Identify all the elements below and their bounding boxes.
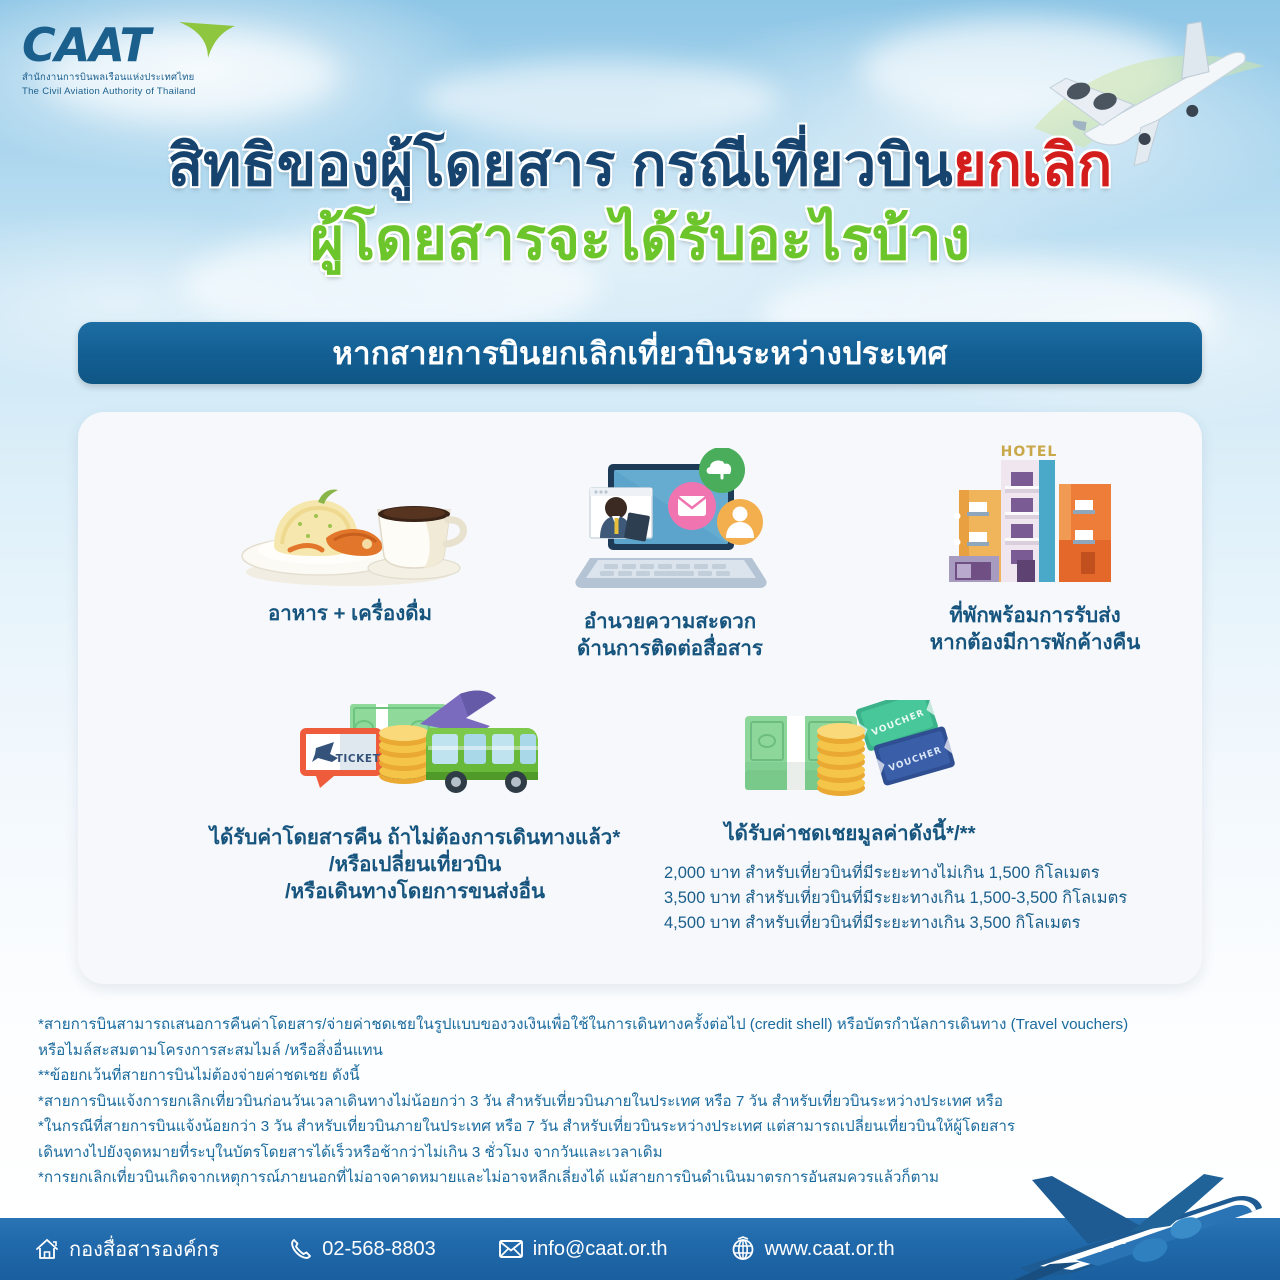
logo-subtitle-thai: สำนักงานการบินพลเรือนแห่งประเทศไทย — [22, 70, 242, 85]
benefit-caption: ได้รับค่าชดเชยมูลค่าดังนี้*/** — [640, 820, 1060, 847]
money-voucher-icon: VOUCHER VOUCHER — [640, 700, 1060, 810]
footer-contact-phone[interactable]: 02-568-8803 — [289, 1237, 435, 1261]
benefit-caption-second-line: /หรือเปลี่ยนเที่ยวบิน — [180, 851, 650, 878]
home-icon — [34, 1236, 60, 1262]
logo-wordmark: CAAT — [22, 18, 150, 72]
compensation-amount-row: 2,000 บาท สำหรับเที่ยวบินที่มีระยะทางไม่… — [664, 861, 1060, 886]
benefit-caption: อำนวยความสะดวก — [500, 608, 840, 635]
benefit-item-food: อาหาร + เครื่องดื่ม — [150, 460, 550, 627]
compensation-amount-row: 3,500 บาท สำหรับเที่ยวบินที่มีระยะทางเกิ… — [664, 886, 1060, 911]
footnote-line: หรือไมล์สะสมตามโครงการสะสมไมล์ /หรือสิ่ง… — [38, 1038, 1238, 1064]
footer-contact-website[interactable]: www.caat.or.th — [730, 1236, 895, 1262]
benefit-caption: อาหาร + เครื่องดื่ม — [150, 600, 550, 627]
benefit-caption: ได้รับค่าโดยสารคืน ถ้าไม่ต้องการเดินทางแ… — [180, 824, 650, 851]
logo-swoosh-icon — [177, 20, 239, 60]
hotel-building-icon: HOTEL — [870, 440, 1200, 592]
email-icon — [498, 1237, 524, 1261]
title-line-1: สิทธิของผู้โดยสาร กรณีเที่ยวบินยกเลิก — [0, 130, 1280, 202]
footnote-line: *สายการบินแจ้งการยกเลิกเที่ยวบินก่อนวันเ… — [38, 1089, 1238, 1115]
laptop-communication-icon — [500, 448, 840, 598]
title-line-1-main: สิทธิของผู้โดยสาร กรณีเที่ยวบิน — [168, 133, 953, 198]
footnote-line: เดินทางไปยังจุดหมายที่ระบุในบัตรโดยสารได… — [38, 1140, 1238, 1166]
phone-icon — [289, 1237, 313, 1261]
page-title: สิทธิของผู้โดยสาร กรณีเที่ยวบินยกเลิก ผู… — [0, 130, 1280, 278]
footer-contact-department[interactable]: กองสื่อสารองค์กร — [34, 1233, 219, 1265]
section-banner: หากสายการบินยกเลิกเที่ยวบินระหว่างประเทศ — [78, 322, 1202, 384]
benefit-caption-second-line: หากต้องมีการพักค้างคืน — [870, 629, 1200, 656]
footer-contact-label: กองสื่อสารองค์กร — [69, 1233, 219, 1265]
title-line-2: ผู้โดยสารจะได้รับอะไรบ้าง — [0, 202, 1280, 278]
benefit-caption: ที่พักพร้อมการรับส่ง — [870, 602, 1200, 629]
footer-contact-label: 02-568-8803 — [322, 1238, 435, 1261]
benefit-item-refund: TICKET — [180, 688, 650, 905]
footnotes: *สายการบินสามารถเสนอการคืนค่าโดยสาร/จ่าย… — [38, 1012, 1238, 1191]
globe-icon — [730, 1236, 756, 1262]
compensation-amount-list: 2,000 บาท สำหรับเที่ยวบินที่มีระยะทางไม่… — [640, 861, 1060, 936]
footer-contact-email[interactable]: info@caat.or.th — [498, 1237, 668, 1261]
svg-text:HOTEL: HOTEL — [1001, 444, 1058, 460]
food-and-drink-icon — [150, 460, 550, 590]
caat-logo: CAAT สำนักงานการบินพลเรือนแห่งประเทศไทย … — [22, 22, 242, 90]
compensation-amount-row: 4,500 บาท สำหรับเที่ยวบินที่มีระยะทางเกิ… — [664, 911, 1060, 936]
benefit-caption-second-line: ด้านการติดต่อสื่อสาร — [500, 635, 840, 662]
footnote-line: *ในกรณีที่สายการบินแจ้งน้อยกว่า 3 วัน สำ… — [38, 1114, 1238, 1140]
title-line-1-highlight: ยกเลิก — [953, 133, 1113, 198]
airplane-illustration-footer — [980, 1168, 1280, 1280]
logo-subtitle-english: The Civil Aviation Authority of Thailand — [22, 86, 242, 97]
benefit-item-communication: อำนวยความสะดวก ด้านการติดต่อสื่อสาร — [500, 448, 840, 662]
section-banner-label: หากสายการบินยกเลิกเที่ยวบินระหว่างประเทศ — [332, 328, 947, 378]
footer-contact-label: www.caat.or.th — [765, 1238, 895, 1261]
footnote-line: *สายการบินสามารถเสนอการคืนค่าโดยสาร/จ่าย… — [38, 1012, 1238, 1038]
ticket-refund-transport-icon: TICKET — [180, 688, 650, 814]
footer-contact-label: info@caat.or.th — [533, 1238, 668, 1261]
benefit-item-hotel: HOTEL ที่พักพร้อมการรับส่ง หากต้องมีการพ… — [870, 440, 1200, 656]
footnote-line: **ข้อยกเว้นที่สายการบินไม่ต้องจ่ายค่าชดเ… — [38, 1063, 1238, 1089]
benefit-caption-third-line: /หรือเดินทางโดยการขนส่งอื่น — [180, 878, 650, 905]
cloud-shape — [420, 60, 780, 140]
svg-text:TICKET: TICKET — [336, 753, 381, 765]
benefit-item-compensation: VOUCHER VOUCHER — [640, 700, 1060, 936]
